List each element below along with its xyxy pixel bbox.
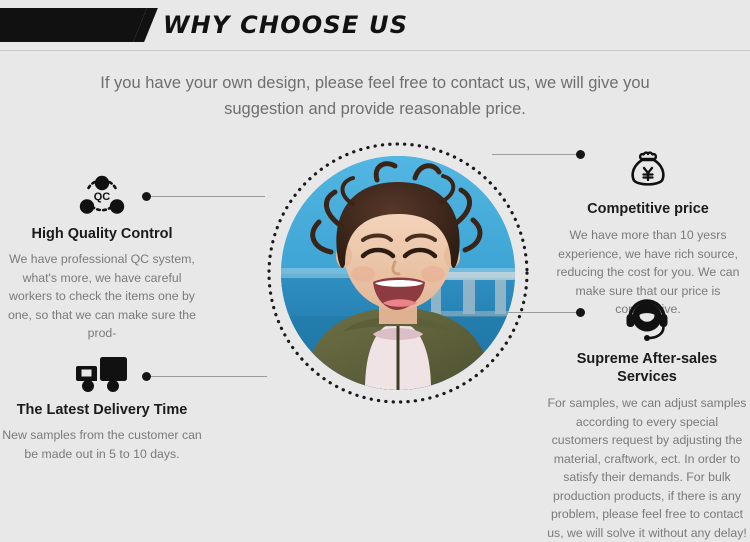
feature-body: New samples from the customer can be mad…	[2, 426, 202, 463]
feature-delivery-time: The Latest Delivery Time New samples fro…	[2, 355, 202, 463]
header-divider	[0, 50, 750, 51]
feature-title: High Quality Control	[2, 225, 202, 243]
header-band: WHY CHOOSE US	[0, 0, 750, 50]
feature-after-sales-services: Supreme After-sales Services For samples…	[546, 298, 748, 542]
money-bag-icon	[626, 148, 670, 192]
page-title: WHY CHOOSE US	[163, 9, 408, 42]
feature-body: For samples, we can adjust samples accor…	[546, 394, 748, 542]
feature-title: The Latest Delivery Time	[2, 401, 202, 419]
header-black-bar	[0, 8, 147, 42]
center-photo	[281, 156, 515, 390]
qc-icon: QC	[79, 175, 125, 217]
feature-quality-control: QC High Quality Control We have professi…	[2, 175, 202, 343]
center-photo-figure	[265, 140, 531, 406]
truck-icon	[75, 355, 129, 393]
subtitle-text: If you have your own design, please feel…	[75, 70, 675, 122]
headset-icon	[622, 298, 672, 342]
feature-title: Supreme After-sales Services	[546, 350, 748, 386]
svg-text:QC: QC	[94, 191, 111, 203]
feature-body: We have professional QC system, what's m…	[2, 250, 202, 343]
feature-competitive-price: Competitive price We have more than 10 y…	[548, 148, 748, 319]
feature-title: Competitive price	[548, 200, 748, 218]
